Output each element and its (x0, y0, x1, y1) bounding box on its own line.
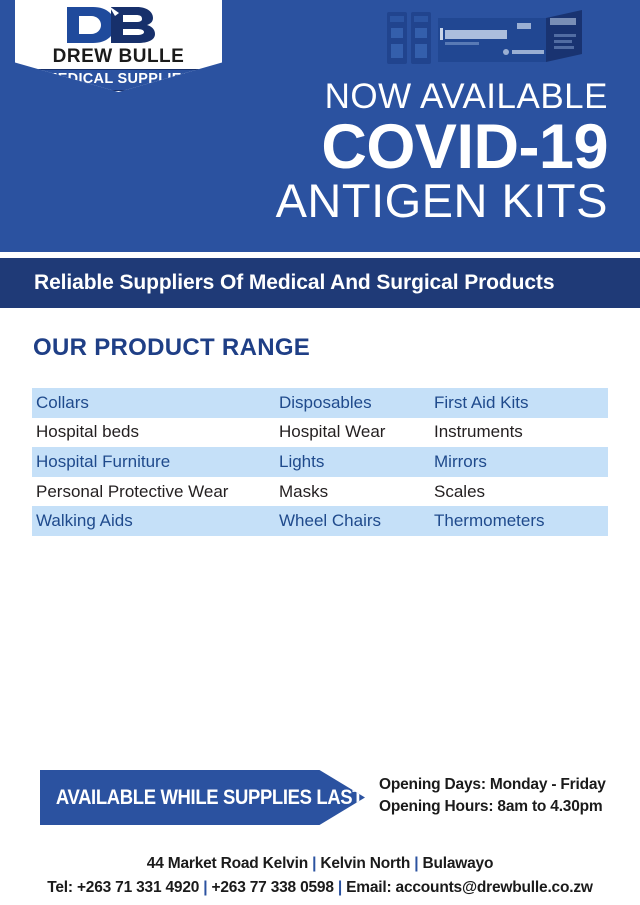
db-monogram-icon (15, 4, 222, 46)
table-cell: Wheel Chairs (279, 511, 434, 531)
opening-days-text: Opening Days: Monday - Friday (379, 774, 629, 796)
phone-primary[interactable]: Tel: +263 71 331 4920 (47, 879, 199, 896)
address-street: 44 Market Road Kelvin (147, 855, 308, 872)
table-row: Hospital beds Hospital Wear Instruments (32, 418, 608, 448)
separator-icon: | (312, 855, 316, 872)
table-cell: Scales (434, 482, 604, 502)
table-cell: Personal Protective Wear (32, 482, 279, 502)
logo-company-name: DREW BULLE (15, 47, 222, 67)
table-cell: Hospital Furniture (32, 452, 279, 472)
table-cell: Collars (32, 393, 279, 413)
table-cell: First Aid Kits (434, 393, 604, 413)
section-title-product-range: OUR PRODUCT RANGE (33, 334, 310, 362)
product-range-table: Collars Disposables First Aid Kits Hospi… (32, 388, 608, 536)
table-cell: Mirrors (434, 452, 604, 472)
separator-icon: | (203, 879, 207, 896)
email-address[interactable]: Email: accounts@drewbulle.co.zw (346, 879, 593, 896)
phone-secondary[interactable]: +263 77 338 0598 (212, 879, 334, 896)
table-cell: Walking Aids (32, 511, 279, 531)
table-cell: Masks (279, 482, 434, 502)
table-cell: Lights (279, 452, 434, 472)
table-cell: Instruments (434, 422, 604, 442)
contact-address-line: 44 Market Road Kelvin | Kelvin North | B… (0, 852, 640, 876)
opening-hours-block: Opening Days: Monday - Friday Opening Ho… (379, 774, 629, 818)
covid-test-kit-photo (386, 6, 602, 68)
tagline-band: Reliable Suppliers Of Medical And Surgic… (0, 258, 640, 308)
opening-hours-text: Opening Hours: 8am to 4.30pm (379, 796, 629, 818)
table-cell: Hospital Wear (279, 422, 434, 442)
address-city: Bulawayo (422, 855, 493, 872)
table-cell: Thermometers (434, 511, 604, 531)
contact-phone-email-line: Tel: +263 71 331 4920 | +263 77 338 0598… (0, 876, 640, 900)
contact-details: 44 Market Road Kelvin | Kelvin North | B… (0, 852, 640, 900)
table-cell: Disposables (279, 393, 434, 413)
header-banner: DREW BULLE MEDICAL SUPPLIES (0, 0, 640, 252)
headline-block: NOW AVAILABLE COVID-19 ANTIGEN KITS (18, 78, 608, 226)
headline-line-covid19: COVID-19 (18, 114, 608, 180)
headline-line-antigen-kits: ANTIGEN KITS (18, 176, 608, 226)
promo-arrow-banner: AVAILABLE WHILE SUPPLIES LAST! (40, 770, 365, 825)
separator-icon: | (414, 855, 418, 872)
promo-banner-text: AVAILABLE WHILE SUPPLIES LAST! (40, 786, 369, 810)
table-row: Walking Aids Wheel Chairs Thermometers (32, 506, 608, 536)
table-row: Personal Protective Wear Masks Scales (32, 477, 608, 507)
table-row: Hospital Furniture Lights Mirrors (32, 447, 608, 477)
table-cell: Hospital beds (32, 422, 279, 442)
flyer-page: DREW BULLE MEDICAL SUPPLIES (0, 0, 640, 905)
address-suburb: Kelvin North (320, 855, 410, 872)
separator-icon: | (338, 879, 342, 896)
tagline-text: Reliable Suppliers Of Medical And Surgic… (0, 271, 554, 295)
table-row: Collars Disposables First Aid Kits (32, 388, 608, 418)
